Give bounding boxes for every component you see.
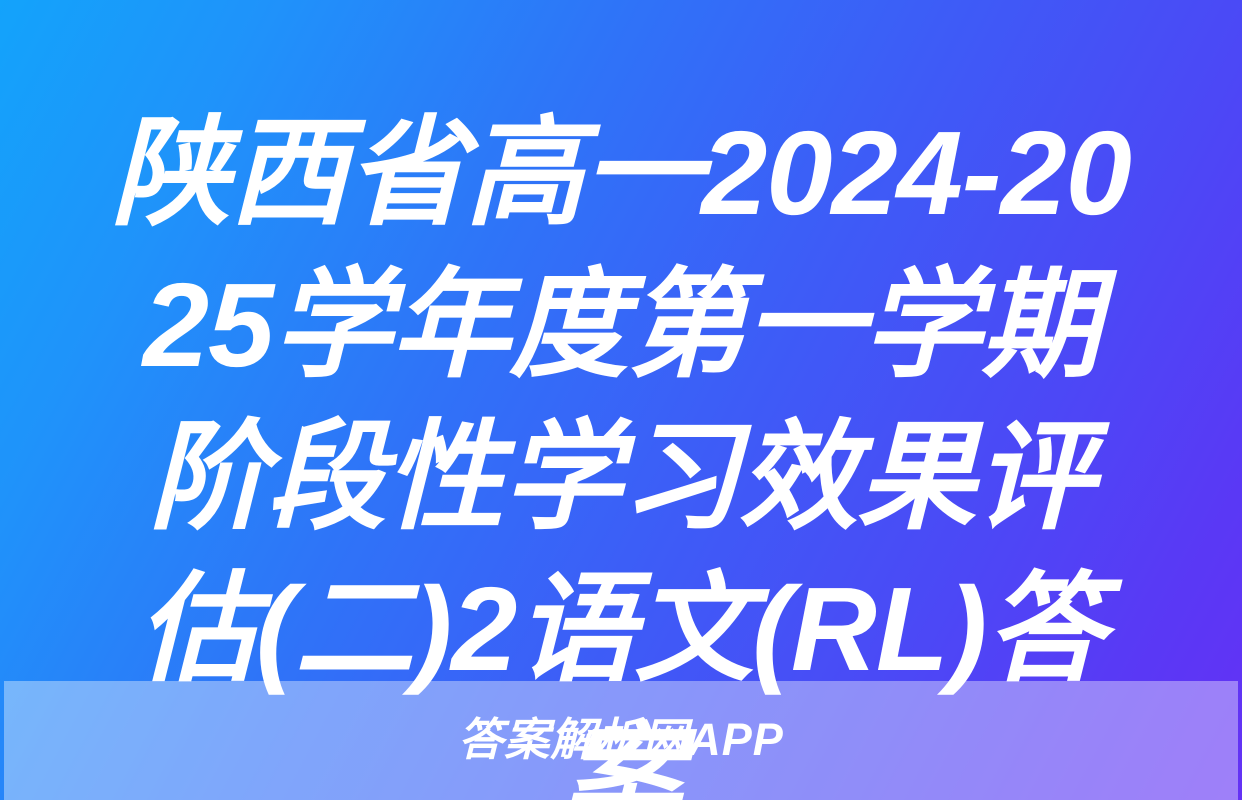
watermark-band: 答案解析网APP [4, 681, 1238, 800]
app-watermark-label: 答案解析网APP [458, 717, 784, 762]
poster-canvas: 陕西省高一2024-2025学年度第一学期阶段性学习效果评估(二)2语文(RL)… [0, 0, 1242, 800]
